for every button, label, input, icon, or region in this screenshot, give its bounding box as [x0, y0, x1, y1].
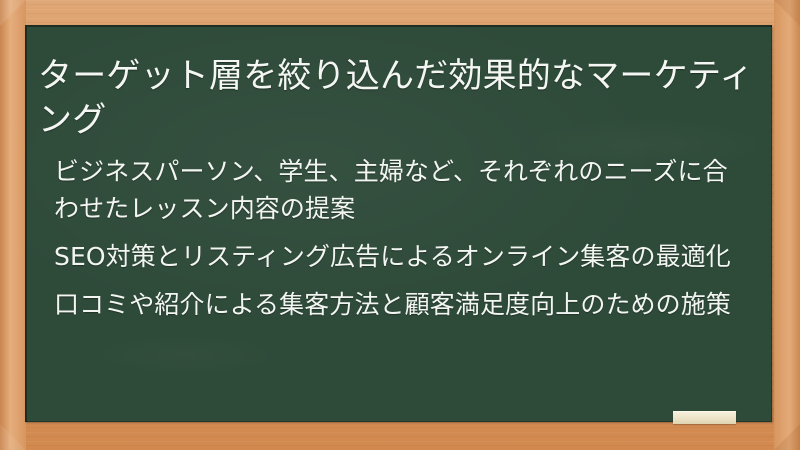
chalk-eraser-icon [673, 411, 736, 424]
slide-title: ターゲット層を絞り込んだ効果的なマーケティング [38, 54, 756, 142]
frame-rail-left [0, 0, 26, 450]
bullet-list: ビジネスパーソン、学生、主婦など、それぞれのニーズに合わせたレッスン内容の提案 … [54, 153, 742, 323]
frame-miter-top-left [0, 0, 26, 26]
frame-rail-right [774, 0, 800, 450]
list-item: ビジネスパーソン、学生、主婦など、それぞれのニーズに合わせたレッスン内容の提案 [54, 153, 742, 227]
wooden-frame: ターゲット層を絞り込んだ効果的なマーケティング ビジネスパーソン、学生、主婦など… [0, 0, 800, 450]
chalkboard: ターゲット層を絞り込んだ効果的なマーケティング ビジネスパーソン、学生、主婦など… [25, 25, 772, 422]
frame-miter-bottom-left [0, 424, 26, 450]
frame-miter-bottom-right [774, 424, 800, 450]
list-item: SEO対策とリスティング広告によるオンライン集客の最適化 [54, 238, 742, 275]
list-item: 口コミや紹介による集客方法と顧客満足度向上のための施策 [54, 286, 742, 323]
frame-miter-top-right [774, 0, 800, 26]
